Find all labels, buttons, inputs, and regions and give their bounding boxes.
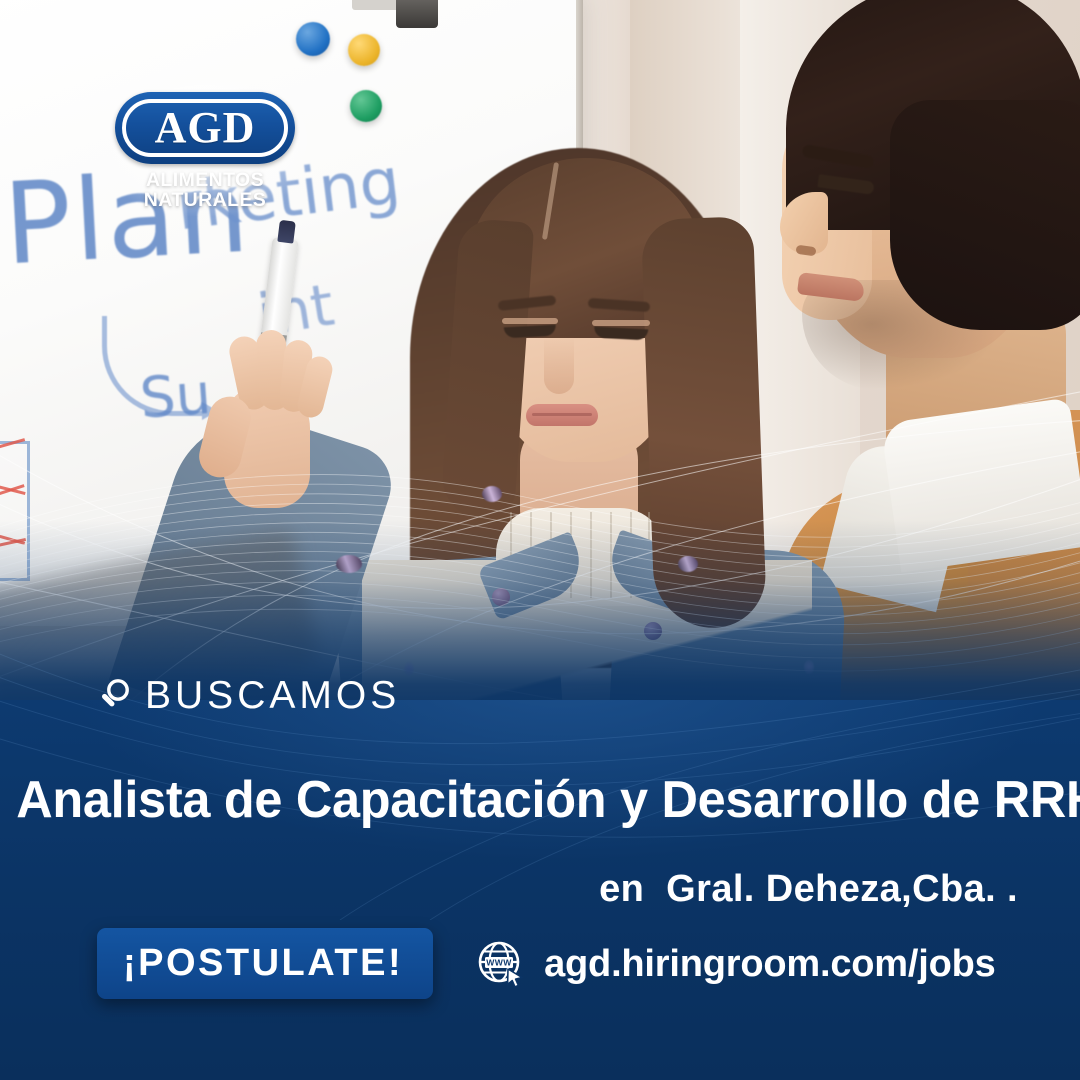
magnet-blue-icon bbox=[296, 22, 330, 56]
job-url-text: agd.hiringroom.com/jobs bbox=[544, 945, 995, 983]
job-posting-poster: Plan rketing int Su bbox=[0, 0, 1080, 1080]
buscamos-text: BUSCAMOS bbox=[145, 676, 400, 715]
job-title: Analista de Capacitación y Desarrollo de… bbox=[16, 773, 1064, 828]
network-node-glow bbox=[482, 486, 502, 502]
magnet-yellow-icon bbox=[348, 34, 380, 66]
woman-eyelid-right bbox=[592, 320, 650, 326]
cta-row: ¡POSTULATE! WWW agd.hiringroom.com/jobs bbox=[97, 928, 996, 999]
magnet-green-icon bbox=[350, 90, 382, 122]
svg-text:WWW: WWW bbox=[486, 957, 512, 967]
logo-oval-icon: AGD bbox=[115, 92, 295, 164]
woman-nose bbox=[544, 336, 574, 394]
globe-icon: WWW bbox=[475, 938, 527, 990]
magnifier-icon bbox=[97, 678, 131, 714]
logo-wordmark: AGD bbox=[115, 106, 295, 150]
job-url-link[interactable]: WWW agd.hiringroom.com/jobs bbox=[475, 938, 995, 990]
agd-logo: AGD ALIMENTOS NATURALES bbox=[110, 92, 300, 202]
woman-mouth bbox=[526, 404, 598, 426]
apply-button[interactable]: ¡POSTULATE! bbox=[97, 928, 433, 999]
job-location: en Gral. Deheza,Cba. . bbox=[599, 868, 1018, 911]
woman-eyelid-left bbox=[502, 318, 558, 324]
man-hair-back bbox=[890, 100, 1080, 330]
buscamos-label-row: BUSCAMOS bbox=[97, 676, 400, 715]
whiteboard-clip bbox=[396, 0, 438, 28]
